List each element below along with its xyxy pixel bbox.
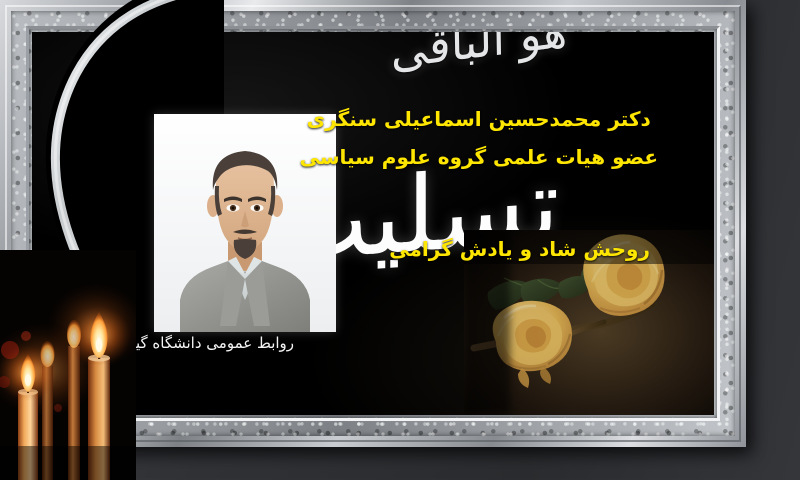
- condolence-banner: تسلیت: [0, 0, 800, 480]
- blessing-text: روحش شاد و یادش گرامی: [389, 237, 650, 261]
- candles-image: [0, 250, 136, 480]
- deceased-info: دکتر محمدحسین اسماعیلی سنگری عضو هیات عل…: [300, 100, 658, 176]
- candles-illustration: [0, 250, 136, 480]
- credit-text: روابط عمومی دانشگاه گیلان: [116, 334, 294, 352]
- deceased-name: دکتر محمدحسین اسماعیلی سنگری: [300, 100, 658, 138]
- deceased-role: عضو هیات علمی گروه علوم سیاسی: [300, 138, 658, 176]
- calligraphy-hoval-baqi: هو الباقی: [384, 32, 573, 76]
